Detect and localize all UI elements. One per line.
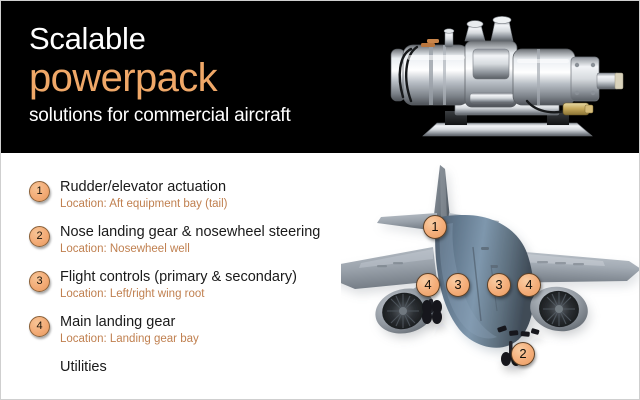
list-item-title: Nose landing gear & nosewheel steering	[60, 224, 339, 241]
callout-badge-3-right[interactable]: 3	[487, 273, 511, 297]
callout-badge-2[interactable]: 2	[511, 342, 535, 366]
aircraft-diagram: 1 4 3 3 4 2	[341, 161, 640, 400]
list-item-title: Utilities	[60, 359, 339, 376]
list-item[interactable]: 1 Rudder/elevator actuation Location: Af…	[29, 179, 339, 211]
powerpack-end-block	[571, 57, 623, 101]
title-subtitle: solutions for commercial aircraft	[29, 104, 389, 128]
list-badge-4: 4	[29, 316, 50, 337]
list-item-title: Main landing gear	[60, 314, 339, 331]
list-item-location: Location: Left/right wing root	[60, 287, 339, 301]
powerpack-product-image	[377, 5, 635, 151]
list-item-utilities[interactable]: Utilities	[29, 359, 339, 389]
list-badge-2: 2	[29, 226, 50, 247]
powerpack-pump-housing	[465, 41, 517, 107]
list-badge-3: 3	[29, 271, 50, 292]
list-item[interactable]: 2 Nose landing gear & nosewheel steering…	[29, 224, 339, 256]
feature-list: 1 Rudder/elevator actuation Location: Af…	[29, 179, 339, 389]
powerpack-brass-connector	[563, 103, 593, 115]
callout-badge-4-right[interactable]: 4	[517, 273, 541, 297]
list-item-location: Location: Aft equipment bay (tail)	[60, 197, 339, 211]
header-text-block: Scalable powerpack solutions for commerc…	[29, 21, 389, 128]
slide-canvas: Scalable powerpack solutions for commerc…	[0, 0, 640, 400]
callout-badge-4-left[interactable]: 4	[416, 273, 440, 297]
list-item[interactable]: 4 Main landing gear Location: Landing ge…	[29, 314, 339, 346]
list-item[interactable]: 3 Flight controls (primary & secondary) …	[29, 269, 339, 301]
callout-badge-3-left[interactable]: 3	[446, 273, 470, 297]
list-item-title: Rudder/elevator actuation	[60, 179, 339, 196]
powerpack-reservoir-body	[513, 49, 575, 105]
callout-badge-1[interactable]: 1	[423, 215, 447, 239]
list-badge-1: 1	[29, 181, 50, 202]
title-line-powerpack: powerpack	[29, 55, 389, 101]
left-main-landing-gear	[422, 299, 442, 324]
list-item-location: Location: Landing gear bay	[60, 332, 339, 346]
list-item-location: Location: Nosewheel well	[60, 242, 339, 256]
title-line-scalable: Scalable	[29, 21, 389, 57]
header-banner: Scalable powerpack solutions for commerc…	[1, 1, 640, 153]
list-item-title: Flight controls (primary & secondary)	[60, 269, 339, 286]
